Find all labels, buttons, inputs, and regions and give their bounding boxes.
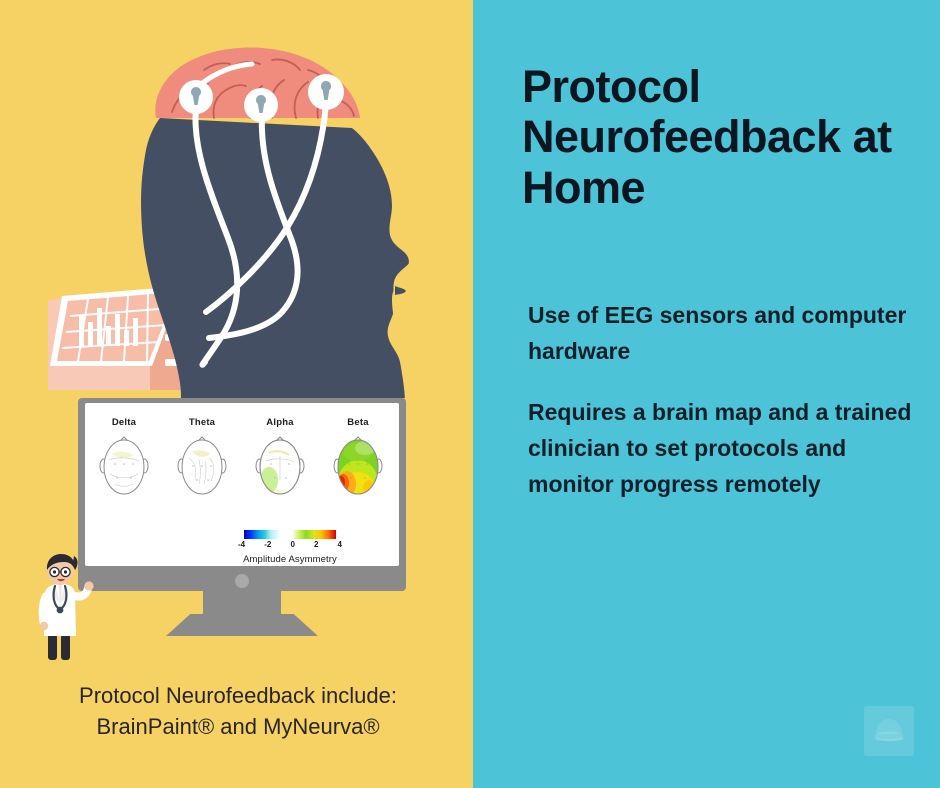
monitor-stand-base [166,614,318,636]
monitor-screen: Delta [85,403,399,566]
brain-map-label-theta: Theta [163,417,241,428]
topomap-delta [97,436,151,498]
brain-map-label-delta: Delta [85,417,163,428]
electrode-3 [308,74,344,110]
brain-map-panel-beta: Beta [319,403,397,498]
head-silhouette [141,118,473,398]
doctor-leg-left [48,634,57,660]
body-paragraph-1: Use of EEG sensors and computer hardware [528,297,918,369]
doctor-character [30,550,102,662]
colorbar-gradient [244,530,336,539]
electrode-2 [244,88,278,122]
doctor-hand-right [84,581,93,590]
colorbar-tick-2: 0 [290,540,294,549]
brand-logo-watermark [864,706,914,756]
colorbar-ticks: -4 -2 0 2 4 [238,540,342,549]
colorbar-title: Amplitude Asymmetry [230,554,350,565]
colorbar-tick-3: 2 [314,540,318,549]
poster-canvas: Delta [0,0,940,788]
brain-map-panel-alpha: Alpha [241,403,319,498]
brain-map-label-alpha: Alpha [241,417,319,428]
monitor-bezel: Delta [78,398,406,591]
topomap-alpha [253,436,307,498]
brain-map-label-beta: Beta [319,417,397,428]
page-title: Protocol Neurofeedback at Home [522,62,922,213]
brain-map-panel-delta: Delta [85,403,163,498]
computer-monitor: Delta [78,398,406,656]
electrode-1 [179,80,213,114]
left-caption: Protocol Neurofeedback include: BrainPai… [48,680,428,742]
body-paragraph-2: Requires a brain map and a trained clini… [528,394,918,502]
monitor-power-button[interactable] [235,574,249,588]
brain-map-row: Delta [85,403,399,523]
colorbar-legend: -4 -2 0 2 4 Amplitude Asymmetry [230,530,350,565]
colorbar-tick-4: 4 [338,540,342,549]
topomap-beta [331,436,385,498]
topomap-theta [175,436,229,498]
monitor-stand-neck [203,590,281,616]
brain-map-panel-theta: Theta [163,403,241,498]
doctor-hand-left [40,622,48,630]
colorbar-tick-0: -4 [238,540,245,549]
doctor-arm-left [43,596,46,624]
doctor-leg-right [61,634,70,660]
colorbar-tick-1: -2 [264,540,271,549]
